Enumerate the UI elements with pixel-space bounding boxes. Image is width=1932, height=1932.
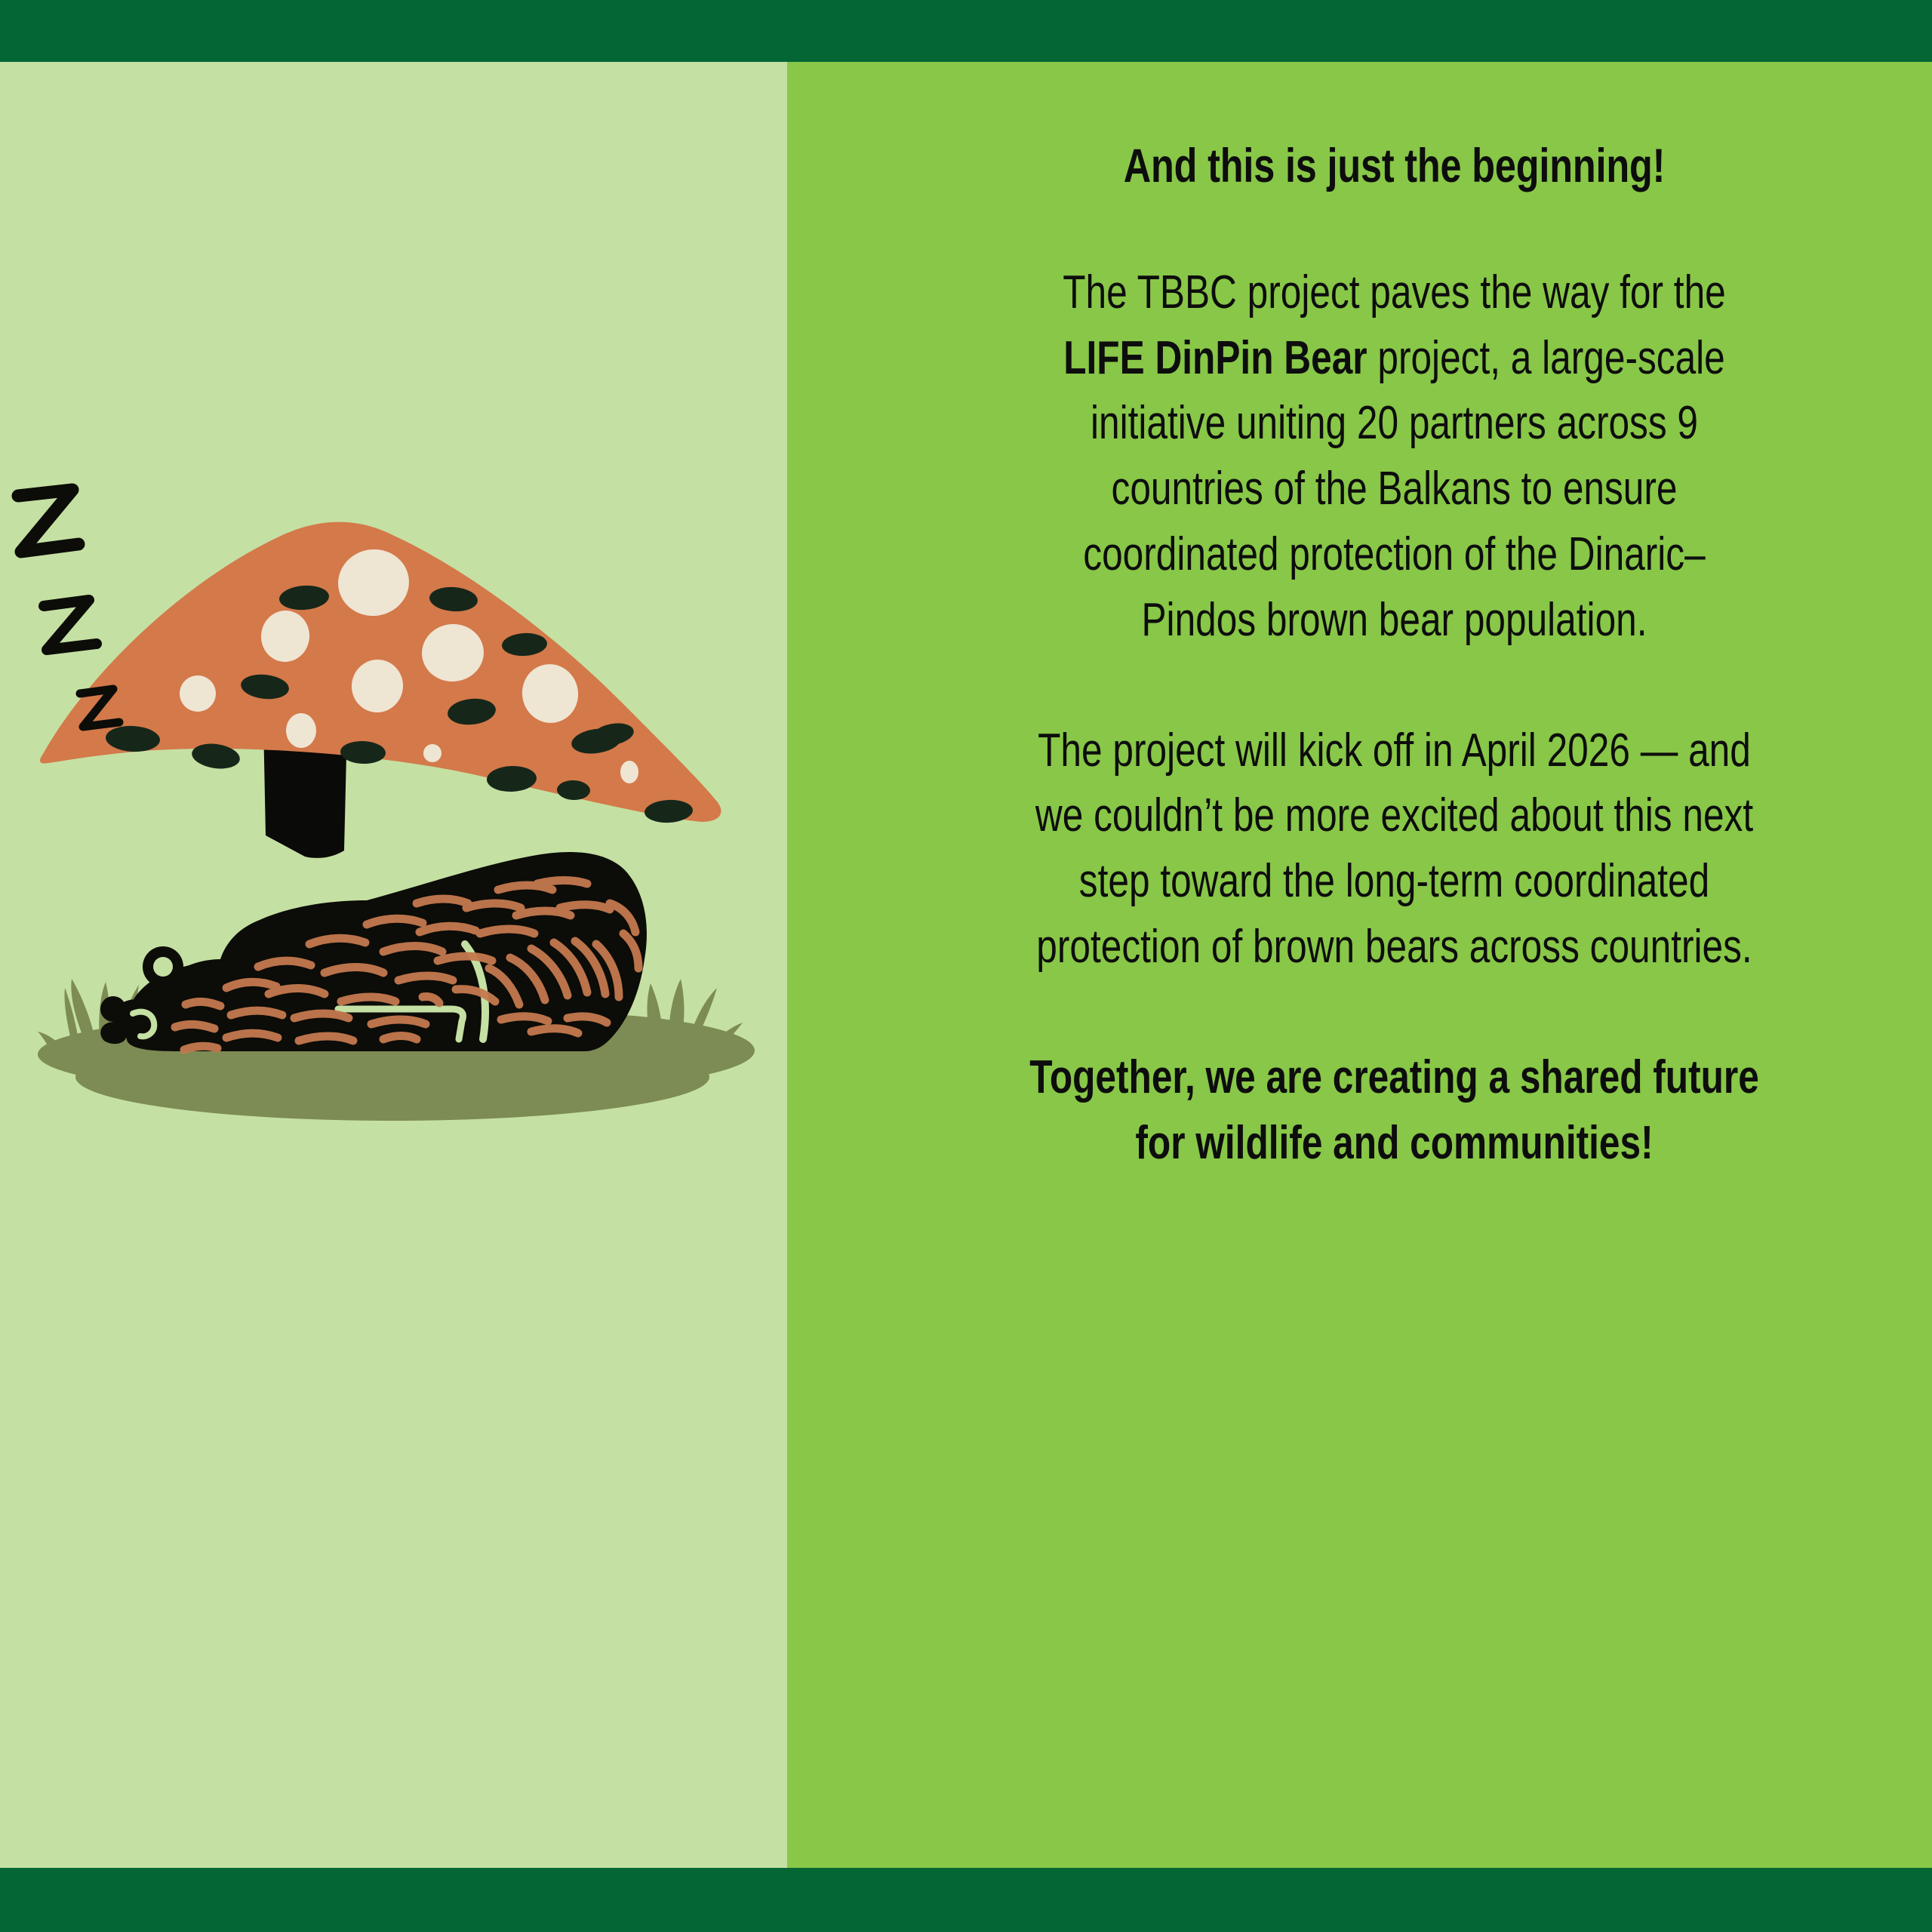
paragraph-tbbc-project: The TBBC project paves the way for the L…	[1028, 260, 1761, 654]
text-column: And this is just the beginning! The TBBC…	[936, 137, 1853, 1176]
mushroom-cap-icon	[40, 522, 721, 824]
illustration-panel	[0, 62, 787, 1868]
paragraph-kickoff: The project will kick off in April 2026 …	[1028, 718, 1761, 980]
project-name-emphasis: LIFE DinPin Bear	[1063, 332, 1367, 384]
sleep-zzz-icon	[18, 490, 119, 727]
poster-stage: And this is just the beginning! The TBBC…	[0, 62, 1932, 1868]
text-panel: And this is just the beginning! The TBBC…	[787, 62, 1932, 1868]
paragraph-1-before: The TBBC project paves the way for the	[1063, 266, 1726, 318]
sleeping-bear-icon	[100, 852, 647, 1051]
sleeping-bear-under-mushroom-illustration	[0, 481, 787, 1122]
paragraph-closing-statement: Together, we are creating a shared futur…	[1028, 1045, 1761, 1177]
bottom-border-bar	[0, 1868, 1932, 1932]
headline: And this is just the beginning!	[1028, 137, 1761, 195]
top-border-bar	[0, 0, 1932, 62]
poster-canvas: And this is just the beginning! The TBBC…	[0, 0, 1932, 1932]
